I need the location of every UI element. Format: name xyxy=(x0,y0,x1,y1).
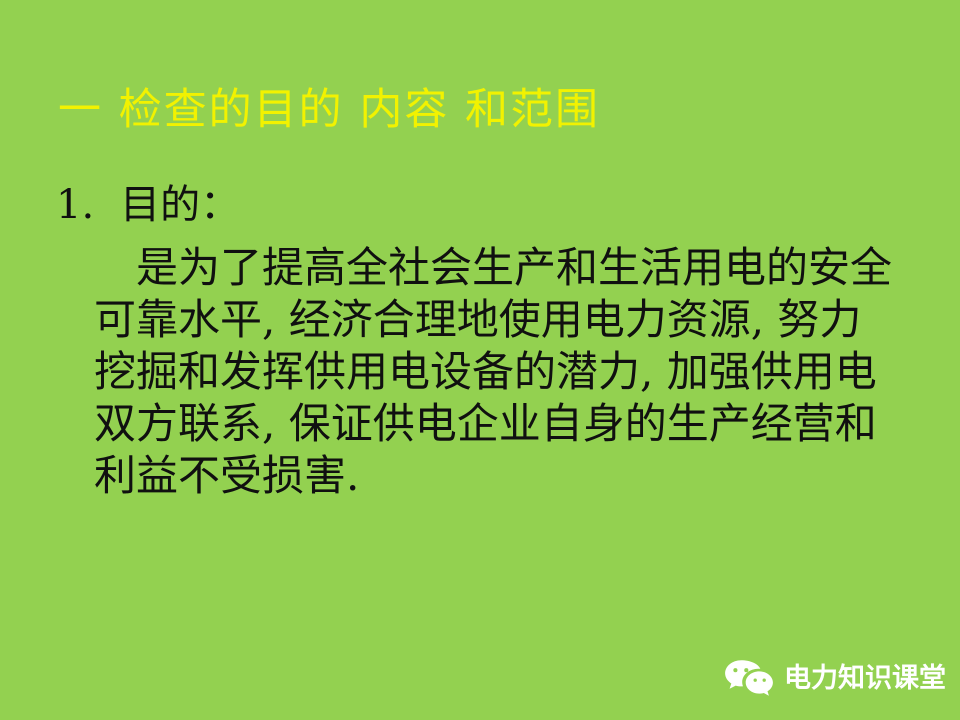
paragraph-line: 双方联系, 保证供电企业自身的生产经营和 xyxy=(94,398,916,450)
list-item-label: 目的： xyxy=(120,178,240,232)
paragraph-line: 挖掘和发挥供用电设备的潜力, 加强供用电 xyxy=(94,346,916,398)
paragraph-line: 利益不受损害. xyxy=(94,450,916,502)
wechat-icon xyxy=(723,658,775,698)
list-item-number: 1. xyxy=(56,178,94,232)
paragraph-line: 是为了提高全社会生产和生活用电的安全 xyxy=(94,242,916,294)
paragraph-line: 可靠水平, 经济合理地使用电力资源, 努力 xyxy=(94,294,916,346)
watermark-label: 电力知识课堂 xyxy=(784,665,946,692)
watermark: 电力知识课堂 xyxy=(723,658,946,698)
slide-canvas: 一 检查的目的 内容 和范围 1.目的： 是为了提高全社会生产和生活用电的安全 … xyxy=(0,0,960,720)
list-item: 1.目的： xyxy=(56,178,916,232)
body-paragraph: 是为了提高全社会生产和生活用电的安全 可靠水平, 经济合理地使用电力资源, 努力… xyxy=(56,242,916,502)
slide-body: 1.目的： 是为了提高全社会生产和生活用电的安全 可靠水平, 经济合理地使用电力… xyxy=(56,178,916,502)
page-title: 一 检查的目的 内容 和范围 xyxy=(58,84,600,136)
